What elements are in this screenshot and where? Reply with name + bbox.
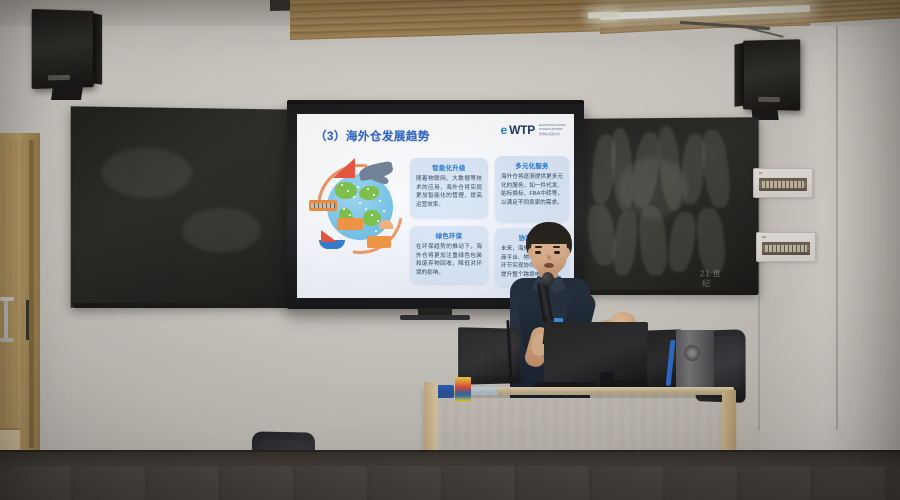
door-edge xyxy=(29,140,34,448)
pc-fan-vent xyxy=(684,345,700,361)
logo-subline-2: TRADE PLATFORM xyxy=(539,128,566,131)
box-heading: 智能化升级 xyxy=(416,163,482,172)
presenter-mouth xyxy=(544,263,554,268)
ewtp-logo-e: e xyxy=(500,124,507,136)
logo-subline-1: ELECTRONIC WORLD xyxy=(539,124,566,127)
electrical-control-panel-top[interactable]: AV xyxy=(753,168,813,198)
cargo-box-icon xyxy=(337,218,363,230)
box-body: 随着物联网、大数据等技术的应用，海外仓将实现更加智能化的管理，提高运营效率。 xyxy=(416,175,482,210)
presenter-ear-left xyxy=(528,248,533,257)
box-body: 在环保趋势的推动下，海外仓将更加注重绿色包装和废弃物回收，降低对环境的影响。 xyxy=(416,243,482,278)
presenter-fringe xyxy=(527,229,571,244)
slide-box-diversified-services: 多元化服务 海外仓将逐渐提供更多元化的服务，如一件代发、贴标换标、FBA中转等，… xyxy=(495,156,569,222)
electrical-breaker-panel-bottom[interactable]: PW xyxy=(756,232,816,262)
classroom-photo-scene: 21 世 纪 AV PW （3）海外仓发展趋势 e WTP ELECTRONIC… xyxy=(0,0,900,500)
door-latch-strip xyxy=(26,300,29,340)
presenter-eye-right xyxy=(554,251,560,254)
box-body: 海外仓将逐渐提供更多元化的服务，如一件代发、贴标换标、FBA中转等，以满足不同卖… xyxy=(501,173,563,208)
global-logistics-globe-illustration xyxy=(309,156,405,264)
speaker-brand-badge xyxy=(758,97,780,102)
presenter-ear-right xyxy=(565,248,570,257)
presenter-eye-left xyxy=(535,251,541,254)
wooden-door[interactable] xyxy=(0,140,28,448)
ewtp-logo: e WTP ELECTRONIC WORLD TRADE PLATFORM 世界… xyxy=(500,124,566,136)
speaker-left-bracket xyxy=(51,86,83,100)
floor-tiles xyxy=(0,466,900,500)
slide-title: （3）海外仓发展趋势 xyxy=(315,128,430,144)
box-heading: 绿色环保 xyxy=(416,231,482,240)
screen-foot xyxy=(400,315,470,320)
presenter-brow-left xyxy=(535,246,542,248)
box-heading: 多元化服务 xyxy=(501,161,563,170)
logo-subline-3: 世界电子贸易平台 xyxy=(539,133,566,136)
door-handle-icon[interactable] xyxy=(4,300,8,342)
slide-box-intelligent-upgrade: 智能化升级 随着物联网、大数据等技术的应用，海外仓将实现更加智能化的管理，提高运… xyxy=(410,158,488,218)
speaker-brand-badge xyxy=(48,75,70,81)
blackboard-left xyxy=(71,106,296,307)
cargo-box-icon-2 xyxy=(367,236,391,248)
panel-switch-row[interactable] xyxy=(762,181,804,188)
presenter-brow-right xyxy=(553,246,560,248)
door-handle-bracket-bottom xyxy=(0,338,14,342)
ceiling-speaker-left xyxy=(32,9,94,89)
ewtp-logo-wtp: WTP xyxy=(509,124,535,136)
ewtp-logo-subtext: ELECTRONIC WORLD TRADE PLATFORM 世界电子贸易平台 xyxy=(539,124,566,136)
wall-seam xyxy=(836,0,838,430)
slide-box-green-environmental: 绿色环保 在环保趋势的推动下，海外仓将更加注重绿色包装和废弃物回收，降低对环境的… xyxy=(410,226,488,284)
desktop-computer-tower[interactable] xyxy=(676,330,714,392)
blackboard-left-ledge xyxy=(74,303,298,308)
podium-edge-shadow xyxy=(424,392,734,398)
speaker-right-side xyxy=(734,43,743,107)
ceiling-speaker-right xyxy=(743,39,800,110)
warehouse-dome-icon xyxy=(379,220,393,229)
panel-label: PW xyxy=(762,236,766,239)
train-windows xyxy=(311,203,335,208)
door-handle-bracket-top xyxy=(0,297,14,301)
fluorescent-tube-light-secondary-icon xyxy=(588,11,618,18)
panel-label: AV xyxy=(759,172,763,175)
speaker-left-side xyxy=(93,13,102,85)
panel-switch-row[interactable] xyxy=(765,245,807,252)
presenter-nose xyxy=(547,255,551,260)
